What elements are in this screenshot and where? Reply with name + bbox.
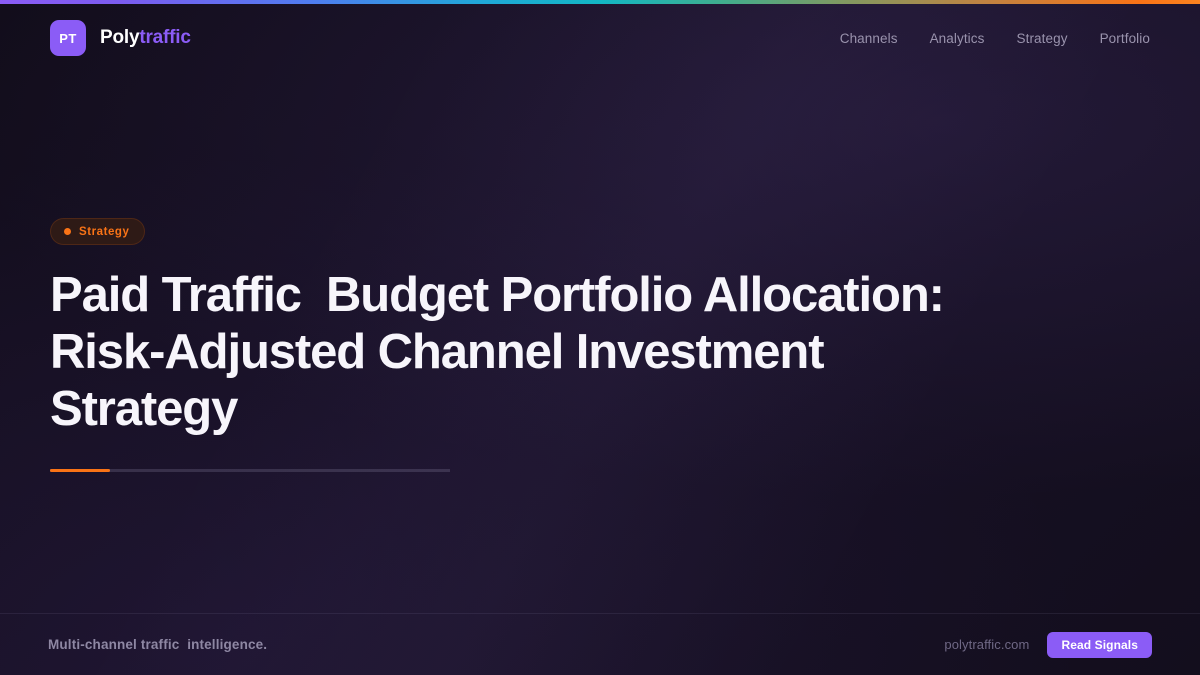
footer-tagline: Multi-channel traffic intelligence. <box>48 637 267 652</box>
brand-name-part2: traffic <box>139 27 190 48</box>
nav-item-channels[interactable]: Channels <box>840 31 898 46</box>
dot-icon <box>64 228 71 235</box>
main-nav: Channels Analytics Strategy Portfolio <box>840 31 1150 46</box>
nav-item-portfolio[interactable]: Portfolio <box>1100 31 1150 46</box>
brand-logo[interactable]: PT Polytraffic <box>50 20 191 56</box>
title-divider <box>50 469 450 472</box>
nav-item-analytics[interactable]: Analytics <box>930 31 985 46</box>
page-title: Paid Traffic Budget Portfolio Allocation… <box>50 267 1010 438</box>
brand-name-part1: Poly <box>100 27 139 48</box>
hero-section: Strategy Paid Traffic Budget Portfolio A… <box>50 218 1060 472</box>
nav-item-strategy[interactable]: Strategy <box>1016 31 1067 46</box>
read-signals-button[interactable]: Read Signals <box>1047 632 1152 658</box>
brand-badge-icon: PT <box>50 20 86 56</box>
site-footer: Multi-channel traffic intelligence. poly… <box>0 614 1200 675</box>
category-badge: Strategy <box>50 218 145 245</box>
site-header: PT Polytraffic Channels Analytics Strate… <box>0 4 1200 72</box>
slide-canvas: PT Polytraffic Channels Analytics Strate… <box>0 0 1200 675</box>
footer-url: polytraffic.com <box>944 637 1029 652</box>
brand-name: Polytraffic <box>100 27 191 49</box>
category-badge-label: Strategy <box>79 226 129 238</box>
footer-actions: polytraffic.com Read Signals <box>944 632 1152 658</box>
